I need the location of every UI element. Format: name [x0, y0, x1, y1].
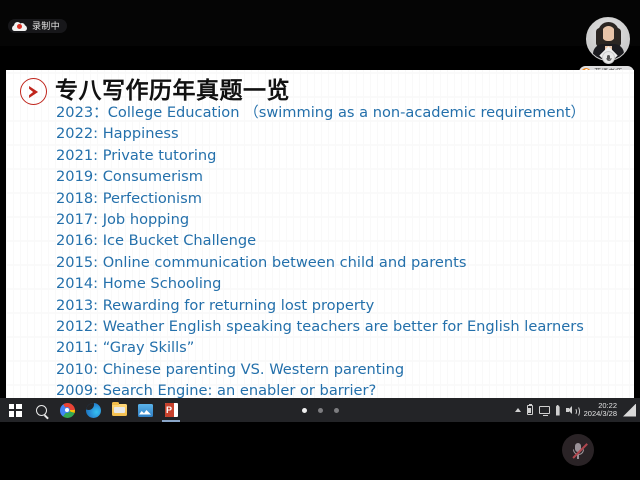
list-item: 2015: Online communication between child… — [56, 252, 626, 273]
pen-icon[interactable] — [556, 405, 560, 416]
powerpoint-button[interactable] — [158, 398, 184, 422]
edge-button[interactable] — [80, 398, 106, 422]
list-item: 2017: Job hopping — [56, 209, 626, 230]
page-dot[interactable] — [318, 408, 323, 413]
speaker-icon[interactable] — [566, 405, 578, 415]
chrome-button[interactable] — [54, 398, 80, 422]
start-button[interactable] — [2, 398, 28, 422]
clock-date: 2024/3/28 — [584, 410, 617, 418]
page-dot[interactable] — [334, 408, 339, 413]
blue-app-icon — [138, 404, 153, 417]
blue-app-button[interactable] — [132, 398, 158, 422]
list-item: 2012: Weather English speaking teachers … — [56, 316, 626, 337]
search-button[interactable] — [28, 398, 54, 422]
list-item: 2009: Search Engine: an enabler or barri… — [56, 380, 626, 398]
edge-icon — [86, 403, 101, 418]
system-tray: 20:22 2024/3/28 — [515, 398, 638, 422]
recording-indicator: 录制中 — [8, 19, 67, 33]
shared-slide[interactable]: 专八写作历年真题一览 2023：College Education （swimm… — [6, 70, 634, 398]
monitor-icon[interactable] — [539, 406, 550, 414]
page-dot-active[interactable] — [302, 408, 307, 413]
recording-label: 录制中 — [32, 22, 60, 31]
powerpoint-icon — [165, 403, 178, 417]
recording-bar: 录制中 — [0, 0, 640, 46]
list-item: 2014: Home Schooling — [56, 273, 626, 294]
list-item: 2011: “Gray Skills” — [56, 337, 626, 358]
cloud-record-icon — [12, 21, 27, 31]
microphone-icon — [602, 51, 615, 64]
list-item: 2010: Chinese parenting VS. Western pare… — [56, 359, 626, 380]
microphone-toggle-button[interactable] — [562, 434, 594, 466]
chevron-right-circle-icon — [20, 78, 47, 105]
microphone-muted-icon — [571, 442, 585, 459]
list-item: 2022: Happiness — [56, 123, 626, 144]
list-item: 2016: Ice Bucket Challenge — [56, 230, 626, 251]
battery-icon[interactable] — [527, 405, 533, 415]
list-item: 2019: Consumerism — [56, 166, 626, 187]
slide-item-list: 2023：College Education （swimming as a no… — [56, 102, 626, 398]
list-item: 2013: Rewarding for returning lost prope… — [56, 295, 626, 316]
windows-taskbar: 20:22 2024/3/28 — [0, 398, 640, 422]
windows-logo-icon — [9, 404, 22, 417]
clock[interactable]: 20:22 2024/3/28 — [584, 402, 617, 418]
list-item: 2023：College Education （swimming as a no… — [56, 102, 626, 123]
list-item: 2021: Private tutoring — [56, 145, 626, 166]
chrome-icon — [60, 403, 75, 418]
list-item: 2018: Perfectionism — [56, 188, 626, 209]
file-explorer-button[interactable] — [106, 398, 132, 422]
meeting-screen-share-view: 录制中 英语老师... — [0, 0, 640, 480]
notification-icon[interactable] — [623, 404, 636, 417]
search-icon — [36, 405, 47, 416]
participant-avatar-wrap[interactable] — [586, 17, 630, 61]
page-title: 专八写作历年真题一览 — [55, 80, 290, 103]
taskbar-icons — [0, 398, 184, 422]
folder-icon — [112, 404, 127, 416]
chevron-up-icon[interactable] — [515, 408, 521, 412]
slide-title-row: 专八写作历年真题一览 — [20, 78, 290, 105]
meeting-controls-bar — [0, 422, 640, 480]
